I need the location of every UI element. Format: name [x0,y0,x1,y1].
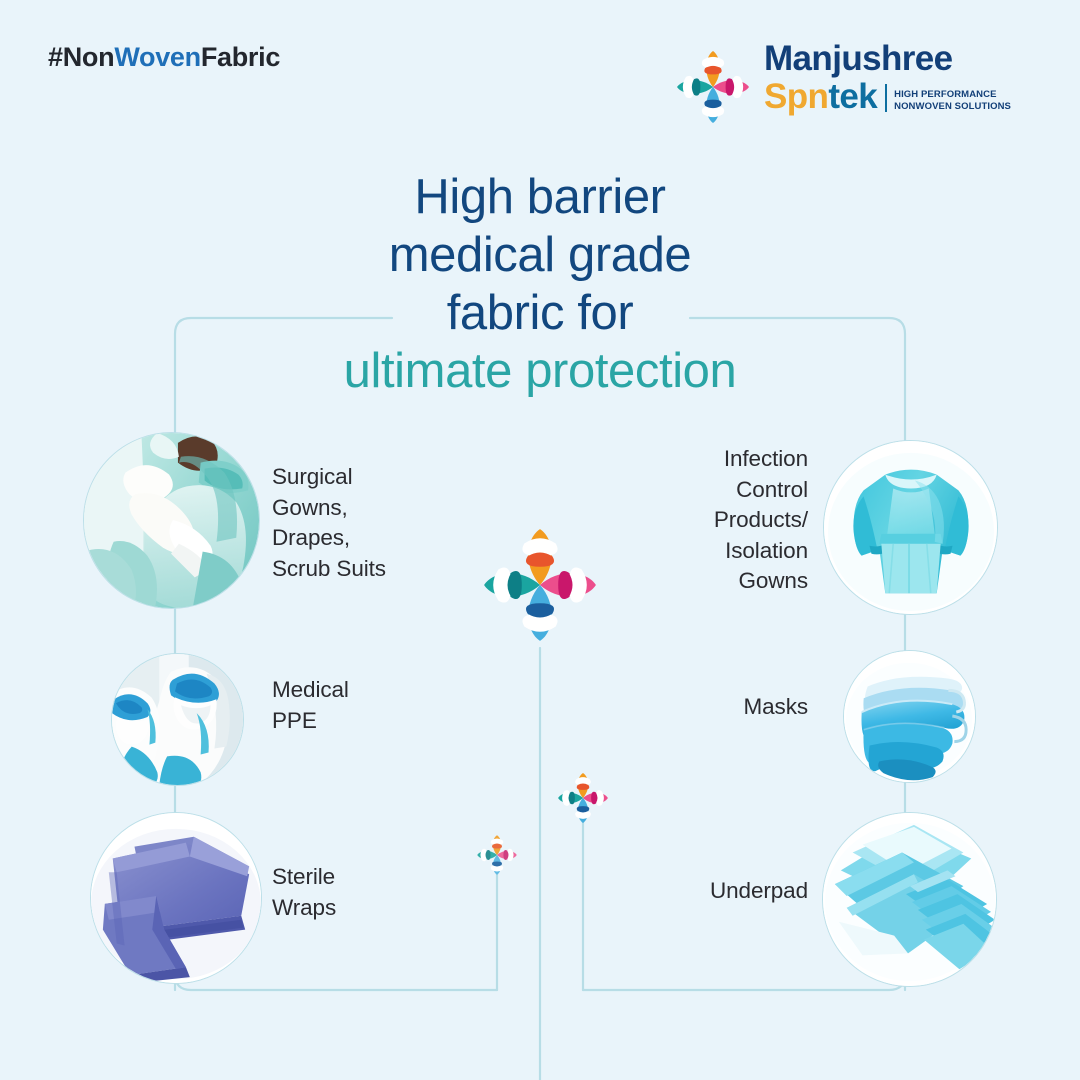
headline-line-3: fabric for [0,284,1080,342]
headline-line-2: medical grade [0,226,1080,284]
logo-tagline-line-1: HIGH PERFORMANCE [894,89,1011,101]
sterile-wraps-image [90,812,262,984]
cyan-isolation-gown-photo [824,441,997,614]
masks-image [843,650,976,783]
underpad-label: Underpad [640,876,808,907]
infection-control-label: Infection Control Products/ Isolation Go… [620,444,808,597]
pinwheel-logo-icon [668,42,758,132]
logo-divider [885,84,887,112]
workers-in-ppe-suits-photo [112,654,243,785]
masks-label: Masks [640,692,808,723]
headline-line-4: ultimate protection [0,342,1080,400]
hashtag-part-2: Woven [114,42,201,72]
hashtag-part-1: #Non [48,42,114,72]
logo-tagline: HIGH PERFORMANCE NONWOVEN SOLUTIONS [894,89,1011,116]
logo-name-tek: tek [828,78,877,116]
medical-ppe-label: Medical PPE [272,675,442,736]
surgeon-donning-gown-photo [84,433,259,608]
logo-name-spn: Spn [764,78,828,116]
page-title: High barrier medical grade fabric for ul… [0,168,1080,400]
infographic-canvas: #NonWovenFabric [0,0,1080,1080]
pinwheel-small-icon [474,832,520,878]
medical-ppe-image [111,653,244,786]
blue-surgical-mask-photo [844,651,975,782]
headline-line-1: High barrier [0,168,1080,226]
logo-wordmark: Manjushree Spntek HIGH PERFORMANCE NONWO… [764,40,1011,116]
brand-logo: Manjushree Spntek HIGH PERFORMANCE NONWO… [668,38,1048,138]
surgical-gowns-image [83,432,260,609]
surgical-gowns-label: Surgical Gowns, Drapes, Scrub Suits [272,462,452,584]
logo-tagline-line-2: NONWOVEN SOLUTIONS [894,101,1011,113]
stacked-blue-underpads-photo [823,813,996,986]
hashtag-part-3: Fabric [201,42,280,72]
underpad-image [822,812,997,987]
infection-control-image [823,440,998,615]
logo-name-manjushree: Manjushree [764,40,1011,78]
pinwheel-large-icon [475,520,605,650]
pinwheel-medium-icon [554,769,612,827]
sterile-wraps-label: Sterile Wraps [272,862,442,923]
folded-blue-sterile-wrap-photo [91,813,261,983]
hashtag: #NonWovenFabric [48,42,280,73]
